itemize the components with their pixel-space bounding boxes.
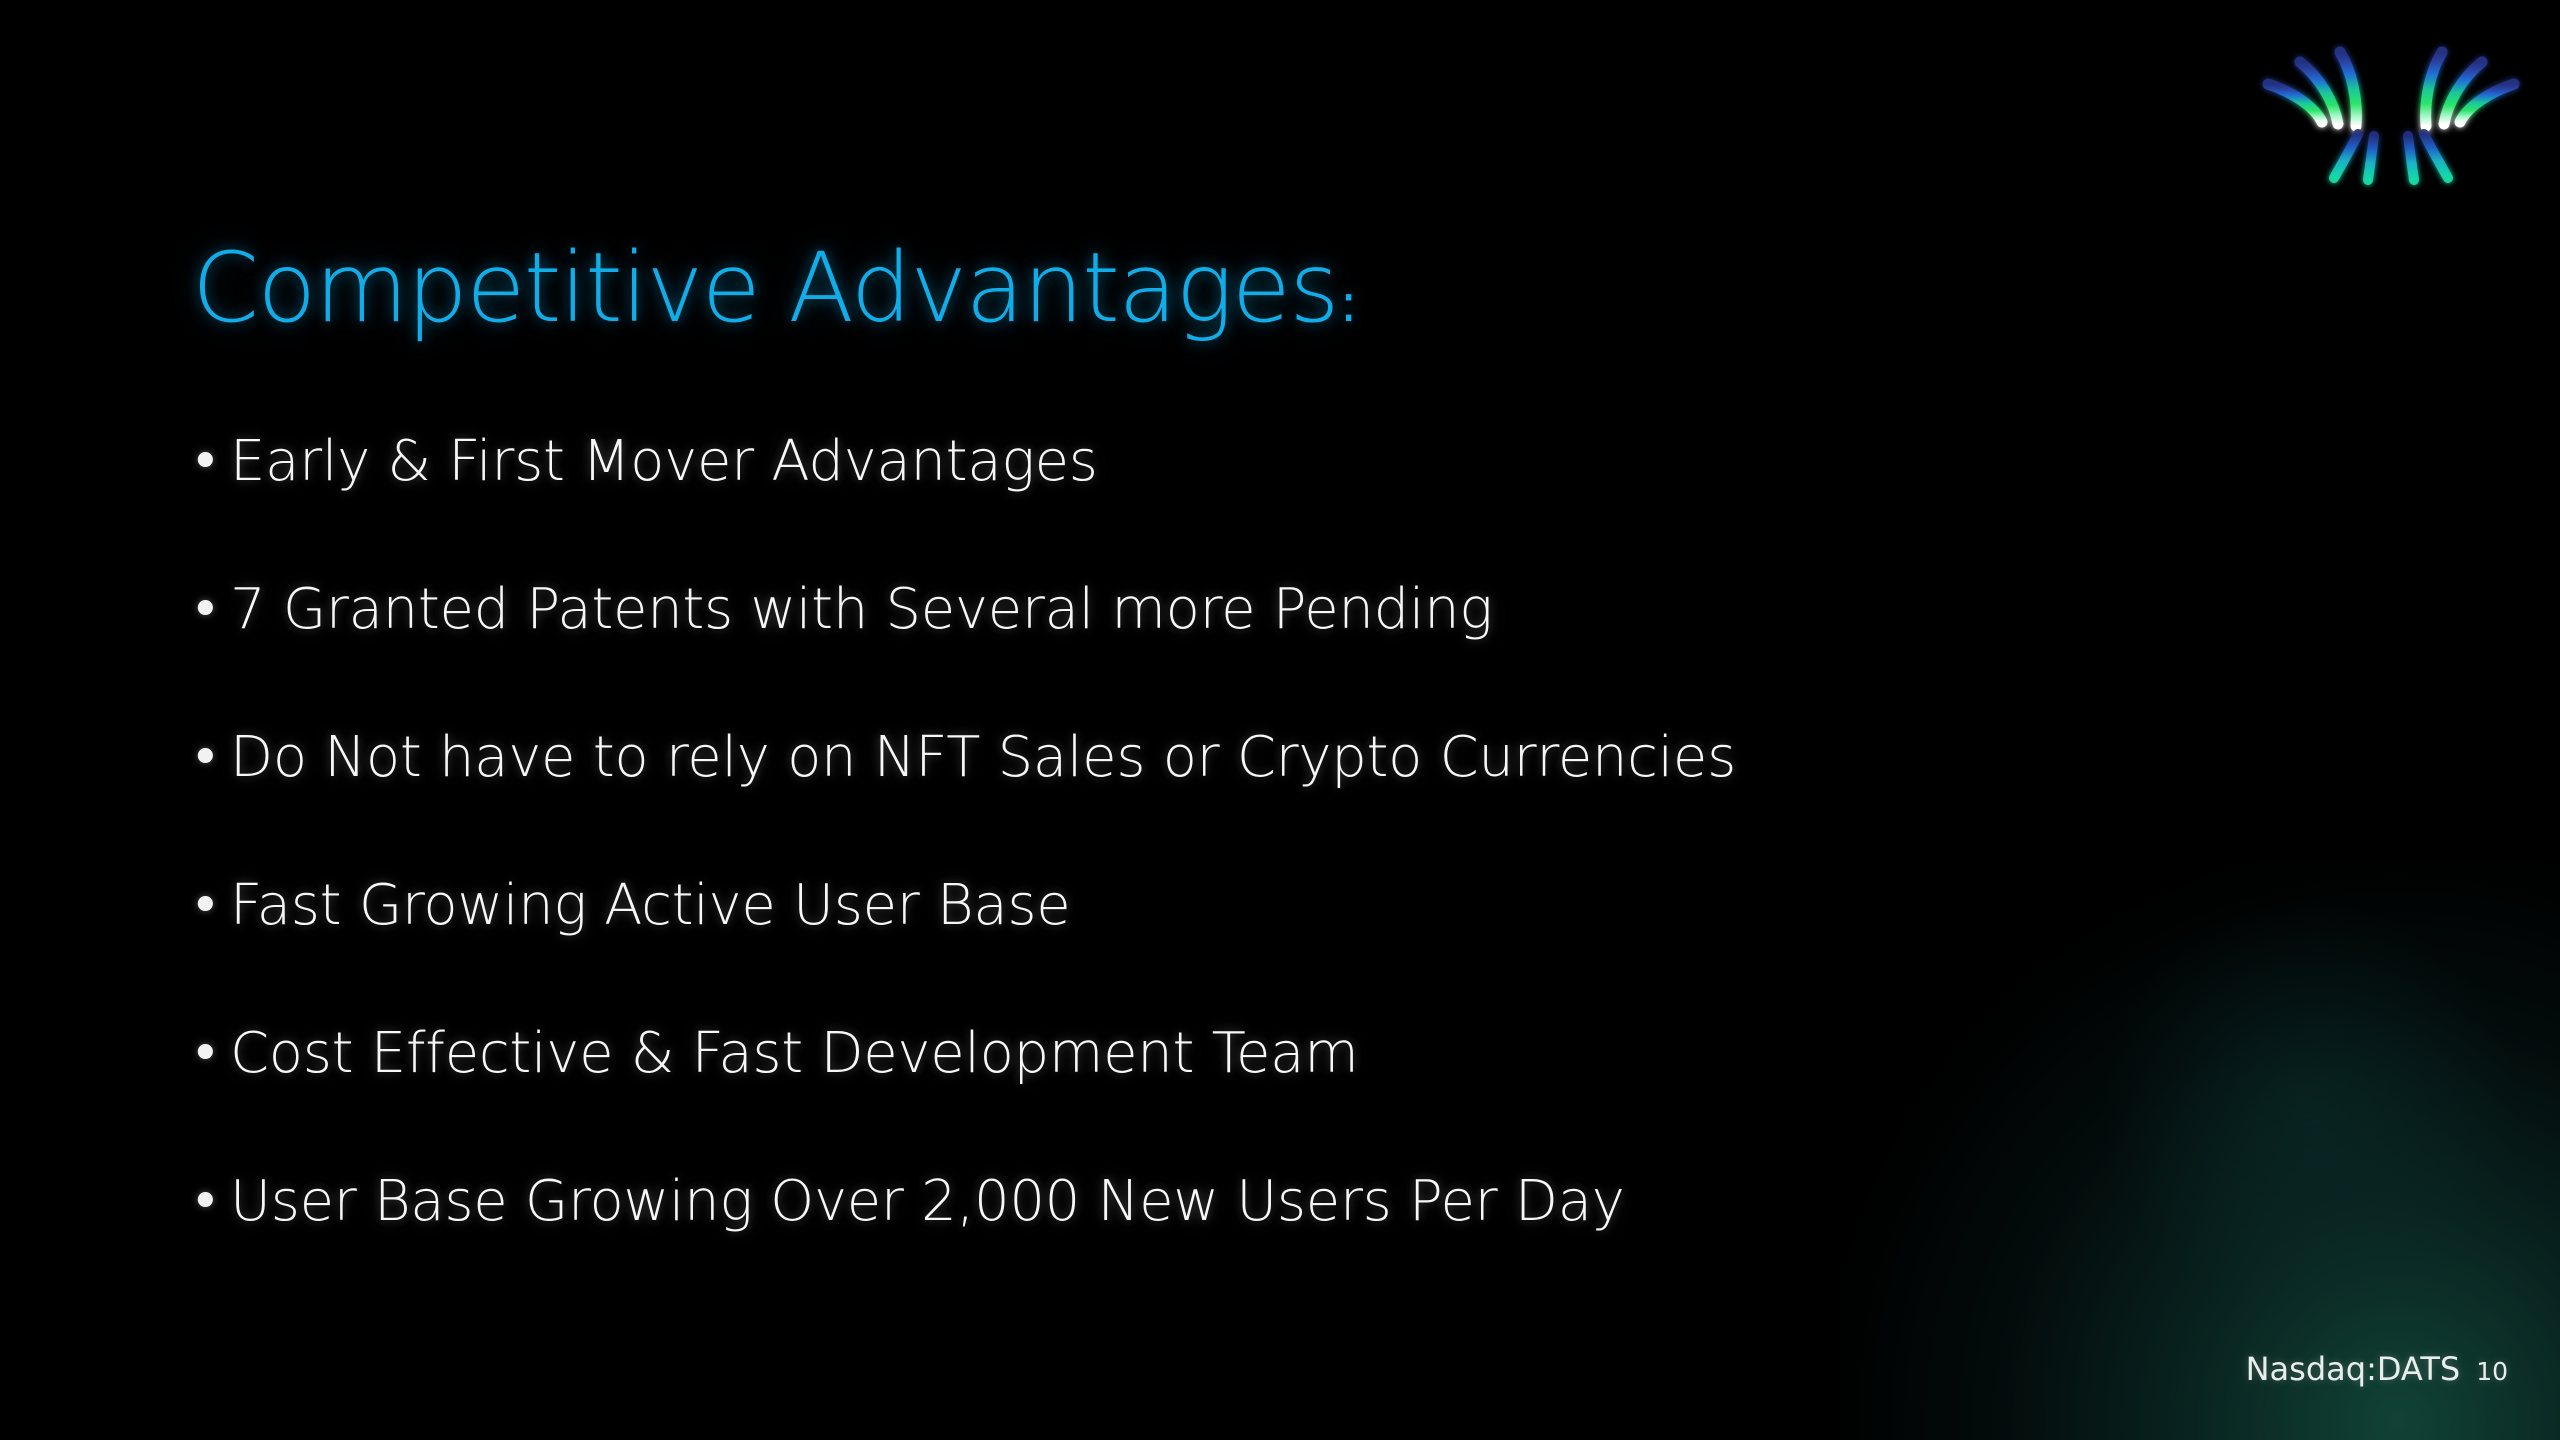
page-title: Competitive Advantages: <box>192 238 1357 339</box>
bullet-list: • Early & First Mover Advantages • 7 Gra… <box>190 430 2290 1318</box>
list-item-label: Cost Effective & Fast Development Team <box>230 1022 1358 1086</box>
list-item: • 7 Granted Patents with Several more Pe… <box>190 578 2290 726</box>
list-item-label: Fast Growing Active User Base <box>230 874 1070 938</box>
slide-number: 10 <box>2476 1357 2508 1386</box>
list-item: • User Base Growing Over 2,000 New Users… <box>190 1170 2290 1318</box>
ticker-symbol: Nasdaq:DATS <box>2246 1350 2461 1388</box>
page-title-colon: : <box>1340 274 1358 334</box>
bullet-marker-icon: • <box>190 726 230 790</box>
list-item-label: Do Not have to rely on NFT Sales or Cryp… <box>230 726 1736 790</box>
list-item: • Cost Effective & Fast Development Team <box>190 1022 2290 1170</box>
list-item-label: Early & First Mover Advantages <box>230 430 1098 494</box>
list-item-label: 7 Granted Patents with Several more Pend… <box>230 578 1493 642</box>
slide-footer: Nasdaq:DATS 10 <box>2246 1350 2508 1388</box>
slide-canvas: Competitive Advantages: • Early & First … <box>0 0 2560 1440</box>
page-title-text: Competitive Advantages <box>192 232 1338 344</box>
bullet-marker-icon: • <box>190 874 230 938</box>
list-item: • Early & First Mover Advantages <box>190 430 2290 578</box>
list-item: • Do Not have to rely on NFT Sales or Cr… <box>190 726 2290 874</box>
datchat-burst-logo <box>2246 22 2536 192</box>
bullet-marker-icon: • <box>190 1022 230 1086</box>
bullet-marker-icon: • <box>190 1170 230 1234</box>
list-item: • Fast Growing Active User Base <box>190 874 2290 1022</box>
bullet-marker-icon: • <box>190 430 230 494</box>
bullet-marker-icon: • <box>190 578 230 642</box>
list-item-label: User Base Growing Over 2,000 New Users P… <box>230 1170 1625 1234</box>
